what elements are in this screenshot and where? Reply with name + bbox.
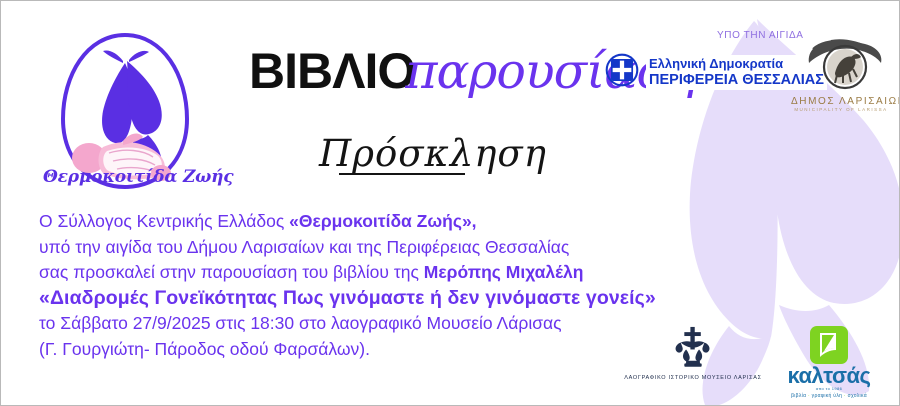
publisher-name: καλτσάς [779,365,879,387]
kaltsas-publisher-block: καλτσάς απο το 1986 βιβλία · γραφική ύλη… [779,326,879,399]
folklore-museum-block: ΛΑΟΓΡΑΦΙΚΟ ΙΣΤΟΡΙΚΟ ΜΟΥΣΕΙΟ ΛΑΡΙΣΑΣ [613,323,773,381]
tagline-sep-1: · [808,393,810,399]
body-line-1: Ο Σύλλογος Κεντρικής Ελλάδος «Θερμοκοιτί… [39,209,656,235]
book-title-line: «Διαδρομές Γονεϊκότητας Πως γινόμαστε ή … [39,286,656,312]
invitation-word: Πρόσκληση [319,132,547,175]
city-subtitle: MUNICIPALITY OF LARISSA [791,107,891,112]
tagline-part-c: σχολικά [848,393,867,399]
body-line-3a: σας προσκαλεί στην παρουσίαση του βιβλίο… [39,262,424,282]
publisher-tagline: βιβλία · γραφική ύλη · σχολικά [779,393,879,399]
body-line-1a: Ο Σύλλογος Κεντρικής Ελλάδος [39,211,289,231]
larissa-municipality-emblem [791,80,891,97]
body-line-3: σας προσκαλεί στην παρουσίαση του βιβλίο… [39,260,656,286]
city-name: ΔΗΜΟΣ ΛΑΡΙΣΑΙΩΝ [791,96,891,107]
event-datetime-line: το Σάββατο 27/9/2025 στις 18:30 στο λαογ… [39,311,656,337]
tagline-sep-2: · [844,393,846,399]
body-line-2: υπό την αιγίδα του Δήμου Λαρισαίων και τ… [39,235,656,261]
body-line-3b: Μερόπης Μιχαλέλη [424,262,584,282]
body-line-1b: «Θερμοκοιτίδα Ζωής», [289,211,476,231]
event-address-line: (Γ. Γουργιώτη- Πάροδος οδού Φαρσάλων). [39,337,656,363]
book-mark-icon [810,326,848,364]
hellenic-republic-emblem [605,53,639,92]
tagline-part-a: βιβλία [791,393,806,399]
museum-caption: ΛΑΟΓΡΑΦΙΚΟ ΙΣΤΟΡΙΚΟ ΜΟΥΣΕΙΟ ΛΑΡΙΣΑΣ [613,375,773,381]
invitation-body: Ο Σύλλογος Κεντρικής Ελλάδος «Θερμοκοιτί… [39,209,656,362]
invitation-underline [339,173,465,175]
larissa-municipality-block: ΔΗΜΟΣ ΛΑΡΙΣΑΙΩΝ MUNICIPALITY OF LARISSA [791,37,891,113]
tagline-part-b: γραφική ύλη [812,393,843,399]
title-black-part: ΒΙΒΛΙΟ [249,43,415,99]
folklore-museum-emblem [667,356,719,373]
poster-canvas: Θερμοκοιτίδα Ζωής ΒΙΒΛΙΟπαρουσίαση Πρόσκ… [0,0,900,406]
association-name: Θερμοκοιτίδα Ζωής [43,167,233,187]
